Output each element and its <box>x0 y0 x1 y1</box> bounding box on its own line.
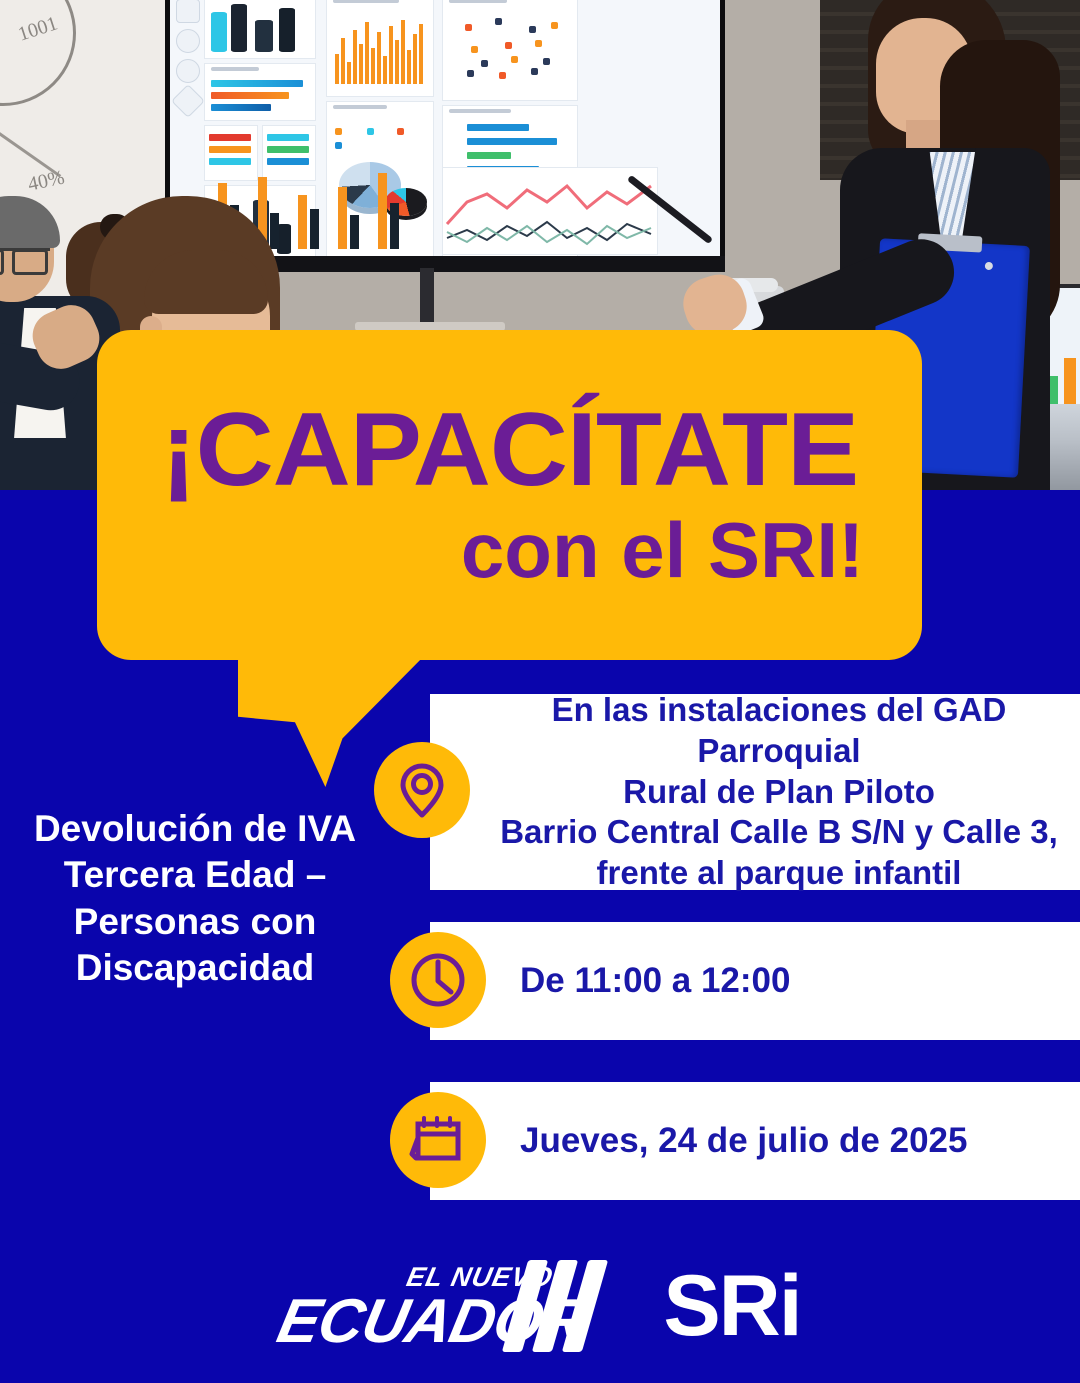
dash-tool-icon-4 <box>171 84 205 118</box>
location-line-4: frente al parque infantil <box>486 853 1072 894</box>
dash-tool-icon-3 <box>176 59 200 83</box>
dash-tool-icon-2 <box>176 29 200 53</box>
footer-logos: EL NUEVO ECUADOR SRi <box>0 1246 1080 1366</box>
speech-bubble: ¡CAPACÍTATE con el SRI! <box>97 330 922 660</box>
dash-tool-icon-1 <box>176 0 200 23</box>
dash-panel-a <box>204 0 316 59</box>
dash-panel-b <box>204 63 316 121</box>
sri-wordmark: SRi <box>663 1258 800 1354</box>
monitor-stand <box>420 268 434 324</box>
dash-line-chart <box>442 167 658 255</box>
headline-primary: ¡CAPACÍTATE <box>161 401 859 501</box>
seated-man-hair <box>0 196 60 248</box>
ecuador-slashes-icon <box>515 1260 611 1352</box>
clipboard-hole-right <box>985 262 993 270</box>
whiteboard-sketch-circle <box>0 0 76 106</box>
seated-man-glasses <box>0 248 50 271</box>
date-text: Jueves, 24 de julio de 2025 <box>430 1121 967 1161</box>
calendar-icon <box>390 1092 486 1188</box>
sri-logo: SRi <box>663 1263 800 1349</box>
topic-title: Devolución de IVA Tercera Edad – Persona… <box>10 806 380 991</box>
time-card: De 11:00 a 12:00 <box>430 922 1080 1040</box>
clock-icon <box>390 932 486 1028</box>
location-line-3: Barrio Central Calle B S/N y Calle 3, <box>486 812 1072 853</box>
location-card: En las instalaciones del GAD Parroquial … <box>430 694 1080 890</box>
headline-secondary: con el SRI! <box>97 511 922 589</box>
location-line-2: Rural de Plan Piloto <box>486 772 1072 813</box>
ecuador-logo: EL NUEVO ECUADOR <box>279 1260 609 1352</box>
location-text: En las instalaciones del GAD Parroquial … <box>430 690 1080 895</box>
location-pin-icon <box>374 742 470 838</box>
dash-bar-chart <box>326 0 434 97</box>
dash-scatter-chart <box>442 0 578 101</box>
poster: 1001 40% <box>0 0 1080 1383</box>
date-card: Jueves, 24 de julio de 2025 <box>430 1082 1080 1200</box>
location-line-1: En las instalaciones del GAD Parroquial <box>486 690 1072 772</box>
